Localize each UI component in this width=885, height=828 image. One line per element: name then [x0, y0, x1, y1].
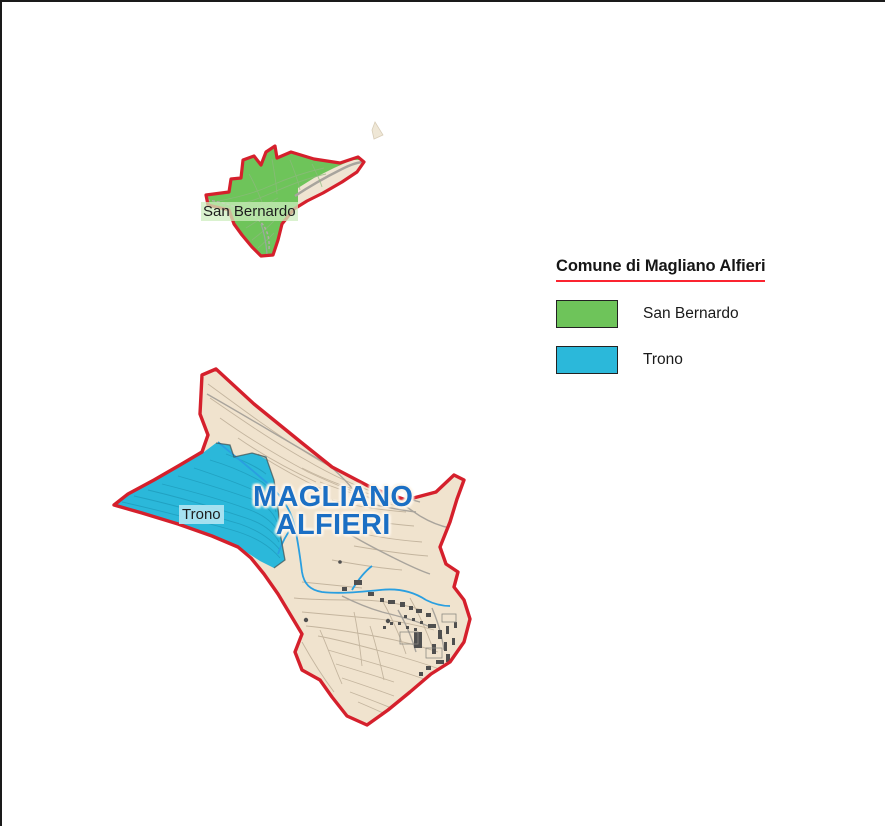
map-canvas[interactable] — [2, 2, 885, 828]
magliano-alfieri-territory[interactable] — [114, 369, 470, 725]
trono-fill[interactable] — [114, 443, 285, 568]
legend-item-san-bernardo[interactable]: San Bernardo — [556, 300, 856, 328]
legend-item-trono[interactable]: Trono — [556, 346, 856, 374]
legend-label-san-bernardo: San Bernardo — [643, 305, 739, 323]
legend-panel: Comune di Magliano Alfieri San Bernardo … — [556, 257, 856, 374]
san-bernardo-exclave[interactable] — [206, 146, 366, 256]
map-fragment-marker — [372, 122, 383, 139]
legend-title: Comune di Magliano Alfieri — [556, 257, 765, 282]
magliano-land-fill — [114, 369, 470, 725]
legend-swatch-san-bernardo — [556, 300, 618, 328]
legend-swatch-trono — [556, 346, 618, 374]
map-page: San Bernardo Trono MAGLIANOALFIERI Comun… — [0, 0, 885, 826]
legend-label-trono: Trono — [643, 351, 683, 369]
